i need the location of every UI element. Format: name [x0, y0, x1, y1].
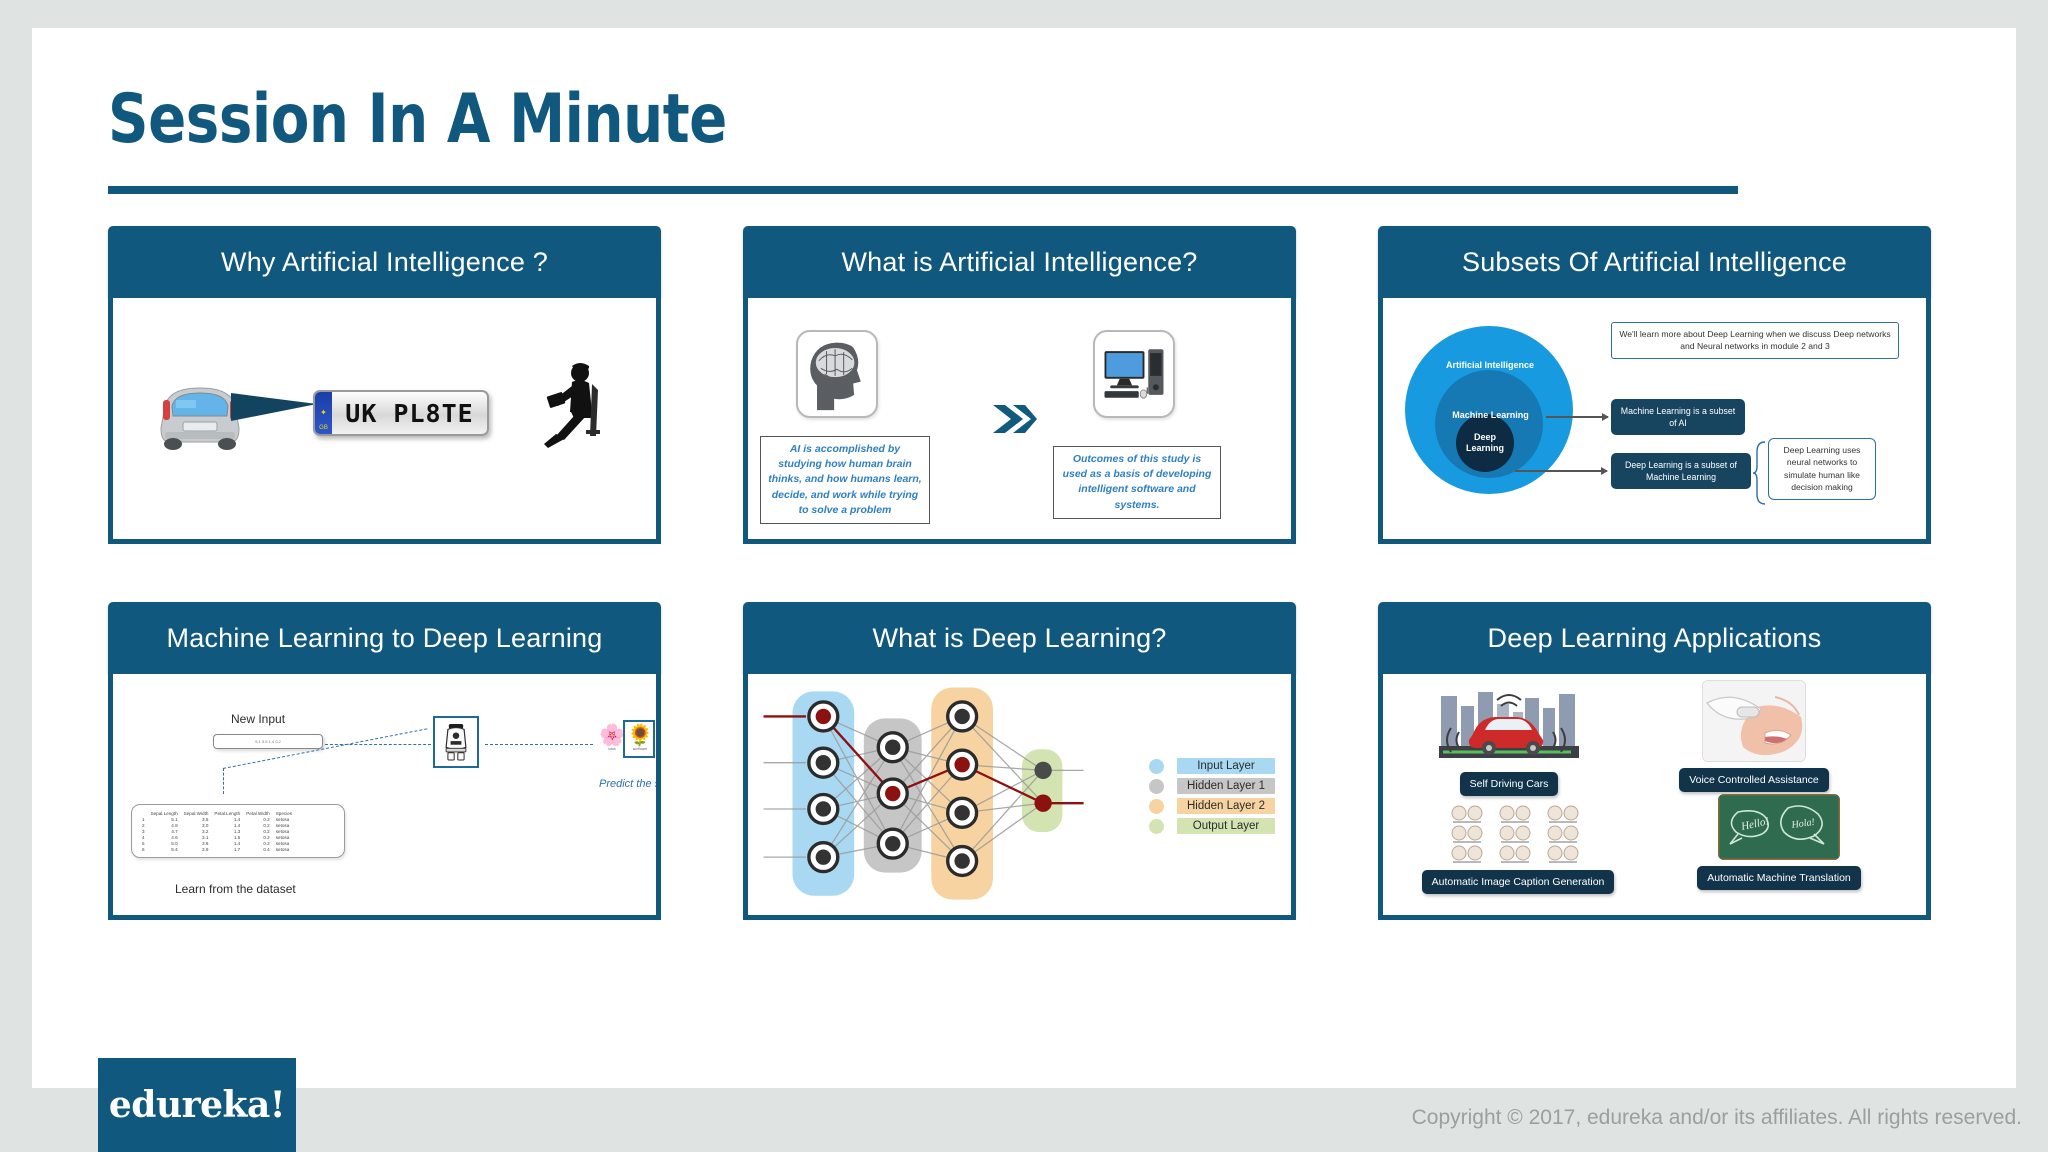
card-why-ai[interactable]: Why Artificial Intelligence ?: [108, 226, 661, 544]
legend-label-hidden-layer-1: Hidden Layer 1: [1177, 778, 1275, 794]
dataset-column-header: Petal.Length: [211, 810, 243, 816]
app-label-machine-translation: Automatic Machine Translation: [1697, 866, 1861, 890]
card-subsets-of-ai-header: Subsets Of Artificial Intelligence: [1378, 226, 1931, 298]
callout-dl-subset: Deep Learning is a subset of Machine Lea…: [1611, 453, 1751, 489]
legend-dot-input-layer: [1149, 759, 1164, 774]
dataset-cell: setosa: [273, 846, 295, 852]
eu-stars-icon: ✦: [320, 408, 327, 417]
callout-ml-subset: Machine Learning is a subset of AI: [1611, 399, 1745, 435]
network-legend: Input Layer Hidden Layer 1 Hidden Layer …: [1149, 758, 1275, 838]
edureka-logo[interactable]: edureka!: [98, 1058, 296, 1152]
chalkboard-translation-icon: Hello! Hola!: [1718, 794, 1840, 860]
dataset-cell: 6: [139, 846, 148, 852]
copyright-text: Copyright © 2017, edureka and/or its aff…: [1412, 1106, 2022, 1130]
legend-dot-hidden-layer-1: [1149, 779, 1164, 794]
card-why-ai-header: Why Artificial Intelligence ?: [108, 226, 661, 298]
legend-item-input-layer: Input Layer: [1149, 758, 1275, 774]
app-label-self-driving-cars: Self Driving Cars: [1460, 772, 1559, 796]
brace-icon: [1753, 440, 1767, 506]
app-label-image-caption: Automatic Image Caption Generation: [1422, 870, 1615, 894]
plate-eu-band: ✦ GB: [315, 392, 332, 434]
card-dl-applications[interactable]: Deep Learning Applications: [1378, 602, 1931, 920]
card-what-is-ai-header: What is Artificial Intelligence?: [743, 226, 1296, 298]
dataset-cell: 5.4: [148, 846, 181, 852]
card-subsets-of-ai[interactable]: Subsets Of Artificial Intelligence Artif…: [1378, 226, 1931, 544]
legend-label-output-layer: Output Layer: [1177, 818, 1275, 834]
card-what-is-dl[interactable]: What is Deep Learning?: [743, 602, 1296, 920]
dataset-column-header: Petal.Width: [243, 810, 273, 816]
venn-label-ml: Machine Learning: [1443, 410, 1538, 421]
arrow-right-icon: [991, 398, 1039, 440]
card-ml-to-dl[interactable]: Machine Learning to Deep Learning New In…: [108, 602, 661, 920]
brain-head-icon-frame: [796, 330, 878, 418]
card-what-is-dl-header: What is Deep Learning?: [743, 602, 1296, 674]
arrow-to-dl-callout: [1515, 470, 1607, 472]
image-grid-icon: [1443, 802, 1593, 864]
selected-flower-highlight: [623, 720, 655, 758]
self-driving-car-icon: [1433, 688, 1585, 766]
dataset-cell: 0.4: [243, 846, 273, 852]
card-dl-applications-header: Deep Learning Applications: [1378, 602, 1931, 674]
dataset-column-header: Sepal.Length: [148, 810, 181, 816]
card-why-ai-body: ✦ GB UK PL8TE: [108, 298, 661, 544]
legend-label-hidden-layer-2: Hidden Layer 2: [1177, 798, 1275, 814]
computer-icon: [1095, 332, 1173, 416]
card-what-is-ai[interactable]: What is Artificial Intelligence?: [743, 226, 1296, 544]
ai-outcome-caption: Outcomes of this study is used as a basi…: [1053, 446, 1221, 519]
slide-canvas: Session In A Minute Why Artificial Intel…: [32, 28, 2016, 1088]
app-image-caption[interactable]: Automatic Image Caption Generation: [1393, 802, 1643, 894]
plate-country-code: GB: [319, 425, 328, 431]
model-robot-frame: [433, 716, 479, 768]
dataset-table: Sepal.LengthSepal.WidthPetal.LengthPetal…: [139, 810, 295, 852]
app-self-driving-cars[interactable]: Self Driving Cars: [1419, 688, 1599, 796]
card-grid: Why Artificial Intelligence ?: [108, 226, 1942, 1026]
venn-label-ai: Artificial Intelligence: [1435, 360, 1545, 371]
app-voice-assistance[interactable]: Voice Controlled Assistance: [1639, 680, 1869, 792]
legend-item-hidden-layer-1: Hidden Layer 1: [1149, 778, 1275, 794]
legend-dot-output-layer: [1149, 819, 1164, 834]
card-ml-to-dl-body: New Input 5.1 3.5 1.4 0.2: [108, 674, 661, 920]
card-subsets-of-ai-body: Artificial Intelligence Machine Learning…: [1378, 298, 1931, 544]
table-row: 65.43.91.70.4setosa: [139, 846, 295, 852]
robot-icon: [438, 721, 474, 763]
legend-item-hidden-layer-2: Hidden Layer 2: [1149, 798, 1275, 814]
card-dl-applications-body: Self Driving Cars: [1378, 674, 1931, 920]
app-machine-translation[interactable]: Hello! Hola! Automatic Machine Translati…: [1659, 794, 1899, 890]
card-ml-to-dl-header: Machine Learning to Deep Learning: [108, 602, 661, 674]
legend-dot-hidden-layer-2: [1149, 799, 1164, 814]
venn-label-dl: Deep Learning: [1457, 432, 1513, 455]
flower-lotus-icon: 🌸lotus: [599, 724, 625, 751]
license-plate: ✦ GB UK PL8TE: [313, 390, 489, 436]
callout-dl-detail: Deep Learning uses neural networks to si…: [1768, 438, 1876, 500]
deep-learning-note: We'll learn more about Deep Learning whe…: [1611, 322, 1899, 359]
iris-dataset-table: Sepal.LengthSepal.WidthPetal.LengthPetal…: [131, 804, 345, 858]
legend-label-input-layer: Input Layer: [1177, 758, 1275, 774]
app-label-voice-assistance: Voice Controlled Assistance: [1679, 768, 1829, 792]
new-input-label: New Input: [231, 712, 285, 726]
predict-caption: Predict the specie of the flower: [599, 778, 661, 790]
flow-connector-vertical: [223, 768, 224, 794]
dataset-cell: 3.9: [181, 846, 212, 852]
flow-arrow-model-to-output: [485, 744, 593, 745]
new-input-value: 5.1 3.5 1.4 0.2: [213, 734, 323, 749]
plate-number: UK PL8TE: [332, 399, 487, 428]
page-title: Session In A Minute: [108, 80, 727, 159]
seated-person-icon: [534, 360, 604, 458]
dataset-column-header: Species: [273, 810, 295, 816]
brain-head-icon: [798, 332, 876, 416]
arrow-to-ml-callout: [1546, 416, 1608, 418]
title-underline: [108, 186, 1738, 194]
card-what-is-dl-body: Input Layer Hidden Layer 1 Hidden Layer …: [743, 674, 1296, 920]
card-what-is-ai-body: AI is accomplished by studying how human…: [743, 298, 1296, 544]
dataset-cell: 1.7: [211, 846, 243, 852]
edureka-logo-text: edureka!: [109, 1084, 285, 1126]
flower-bird-of-paradise-icon: 🌺bird of paradise: [655, 724, 661, 751]
dataset-column-header: Sepal.Width: [181, 810, 212, 816]
learn-from-dataset-label: Learn from the dataset: [175, 882, 296, 896]
voice-assistant-icon: [1702, 680, 1806, 762]
legend-item-output-layer: Output Layer: [1149, 818, 1275, 834]
computer-icon-frame: [1093, 330, 1175, 418]
scan-beam: [231, 393, 317, 421]
ai-brain-caption: AI is accomplished by studying how human…: [760, 436, 930, 524]
